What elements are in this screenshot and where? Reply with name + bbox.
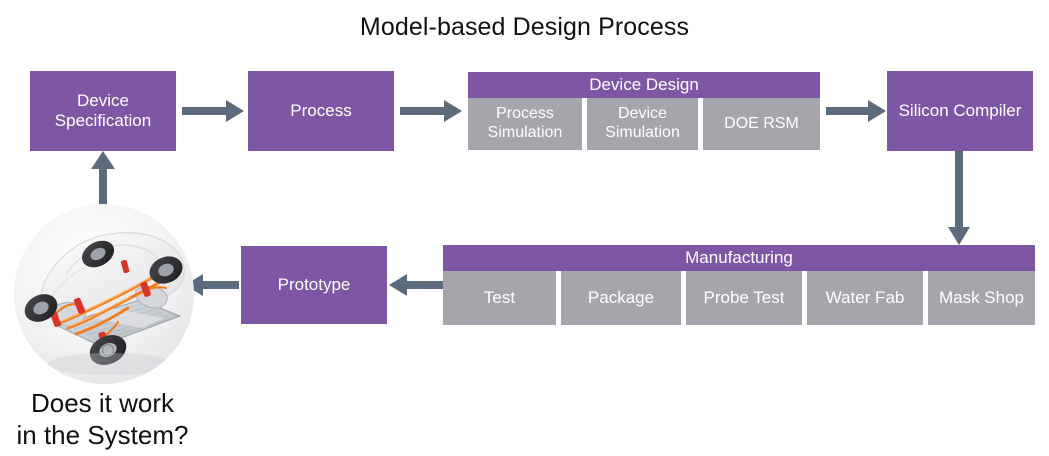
cell-test[interactable]: Test [443,271,556,325]
ev-chassis-illustration [14,204,194,384]
group-device-design-header: Device Design [468,72,820,98]
arrow-process-to-device-design [400,100,462,122]
node-device-specification[interactable]: Device Specification [30,71,176,151]
cell-process-simulation[interactable]: Process Simulation [468,98,582,150]
cell-process-simulation-label: Process Simulation [468,105,582,143]
arrow-manufacturing-to-prototype [389,274,443,296]
cell-mask-shop[interactable]: Mask Shop [928,271,1035,325]
arrow-device-specification-to-process [182,100,244,122]
node-prototype-label: Prototype [278,275,351,295]
arrow-device-design-to-silicon-compiler [826,100,886,122]
diagram-canvas: Model-based Design Process Device Specif… [0,0,1049,456]
cell-test-label: Test [484,288,515,308]
node-silicon-compiler[interactable]: Silicon Compiler [887,71,1033,151]
cell-device-simulation-label: Device Simulation [587,105,698,143]
page-title: Model-based Design Process [0,13,1049,42]
ev-chassis-image [14,204,194,384]
cell-doe-rsm[interactable]: DOE RSM [703,98,820,150]
group-device-design-body: Process Simulation Device Simulation DOE… [468,98,820,150]
group-device-design: Device Design Process Simulation Device … [468,72,820,150]
group-manufacturing-body: Test Package Probe Test Water Fab Mask S… [443,271,1035,325]
cell-mask-shop-label: Mask Shop [939,288,1024,308]
cell-water-fab-label: Water Fab [826,288,905,308]
node-prototype[interactable]: Prototype [241,246,387,324]
cell-probe-test[interactable]: Probe Test [686,271,802,325]
caption-line-1: Does it work [0,388,205,420]
cell-probe-test-label: Probe Test [704,288,785,308]
caption-line-2: in the System? [0,420,205,452]
cell-device-simulation[interactable]: Device Simulation [587,98,698,150]
cell-package-label: Package [588,288,654,308]
node-device-specification-label: Device Specification [30,91,176,131]
cell-doe-rsm-label: DOE RSM [724,115,799,134]
group-manufacturing: Manufacturing Test Package Probe Test Wa… [443,245,1035,325]
node-silicon-compiler-label: Silicon Compiler [899,101,1022,121]
system-question-caption: Does it work in the System? [0,388,205,451]
cell-package[interactable]: Package [561,271,681,325]
arrow-silicon-compiler-to-manufacturing [948,151,970,245]
group-manufacturing-header: Manufacturing [443,245,1035,271]
node-process-label: Process [290,101,351,121]
node-process[interactable]: Process [248,71,394,151]
cell-water-fab[interactable]: Water Fab [807,271,923,325]
